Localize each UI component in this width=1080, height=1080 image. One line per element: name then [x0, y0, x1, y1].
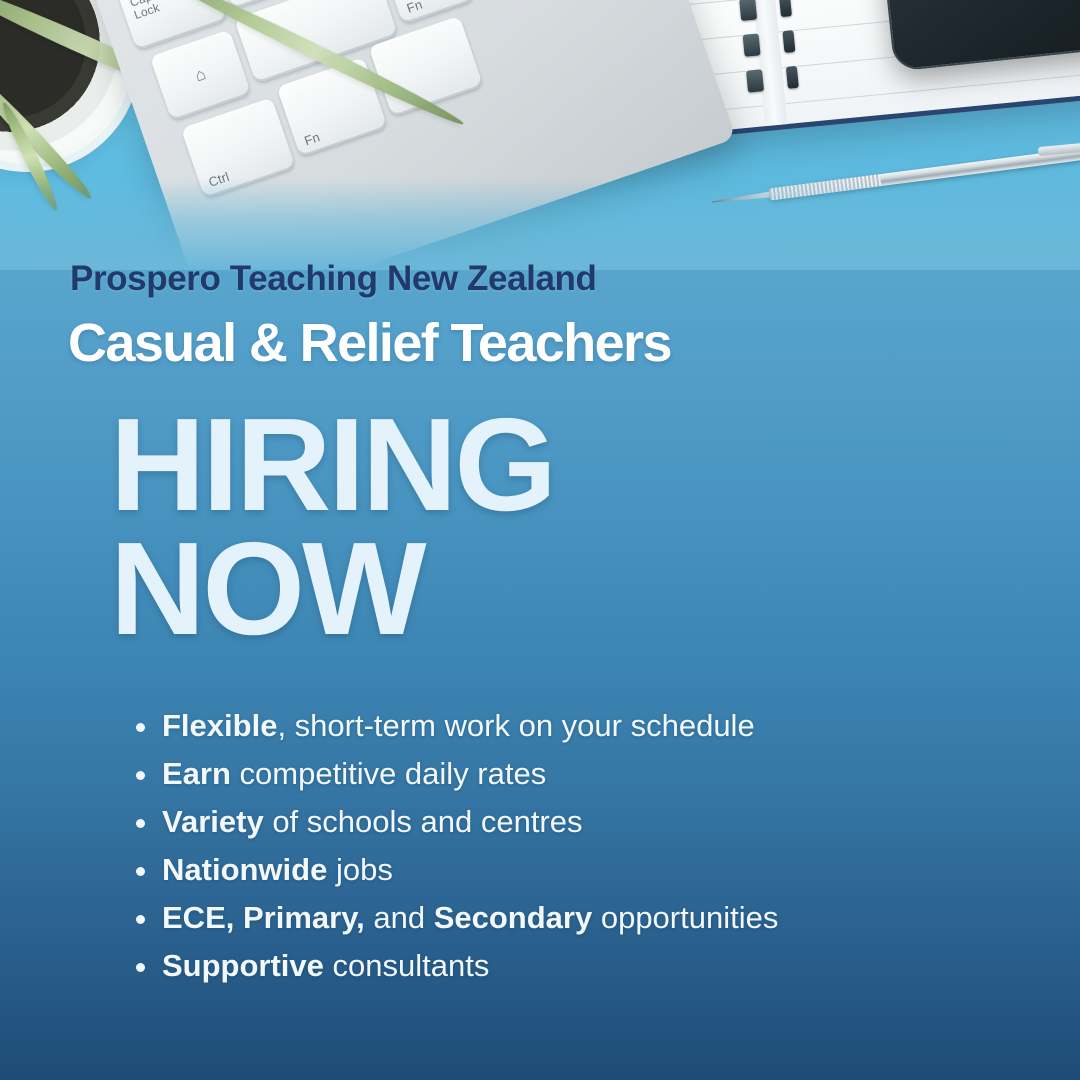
- benefit-text: and: [365, 900, 434, 935]
- hiring-poster: CapsLock Z X ⌂ Fn Alt Ctrl Fn Prosp: [0, 0, 1080, 1080]
- benefit-keyword: Supportive: [162, 948, 324, 983]
- benefit-item: Nationwide jobs: [133, 846, 778, 894]
- benefits-list: Flexible, short-term work on your schedu…: [133, 702, 778, 990]
- hero-headline: HIRING NOW: [110, 403, 554, 651]
- benefit-text: opportunities: [592, 900, 778, 935]
- benefit-item: ECE, Primary, and Secondary opportunitie…: [133, 894, 778, 942]
- benefit-keyword: ECE, Primary,: [162, 900, 365, 935]
- benefit-text: , short-term work on your schedule: [277, 708, 754, 743]
- benefit-text: of schools and centres: [264, 804, 583, 839]
- benefit-item: Earn competitive daily rates: [133, 750, 778, 798]
- benefit-item: Supportive consultants: [133, 942, 778, 990]
- benefit-item: Variety of schools and centres: [133, 798, 778, 846]
- benefit-text: consultants: [324, 948, 489, 983]
- benefit-item: Flexible, short-term work on your schedu…: [133, 702, 778, 750]
- benefit-keyword: Variety: [162, 804, 264, 839]
- role-subheading: Casual & Relief Teachers: [68, 312, 671, 374]
- benefit-keyword: Nationwide: [162, 852, 327, 887]
- benefit-text: competitive daily rates: [231, 756, 546, 791]
- benefit-text: jobs: [327, 852, 392, 887]
- hero-line-1: HIRING: [110, 403, 554, 527]
- hero-line-2: NOW: [110, 527, 554, 651]
- benefit-keyword: Secondary: [434, 900, 593, 935]
- poster-content: Prospero Teaching New Zealand Casual & R…: [0, 0, 1080, 1080]
- brand-kicker: Prospero Teaching New Zealand: [70, 259, 597, 299]
- benefit-keyword: Earn: [162, 756, 231, 791]
- benefit-keyword: Flexible: [162, 708, 277, 743]
